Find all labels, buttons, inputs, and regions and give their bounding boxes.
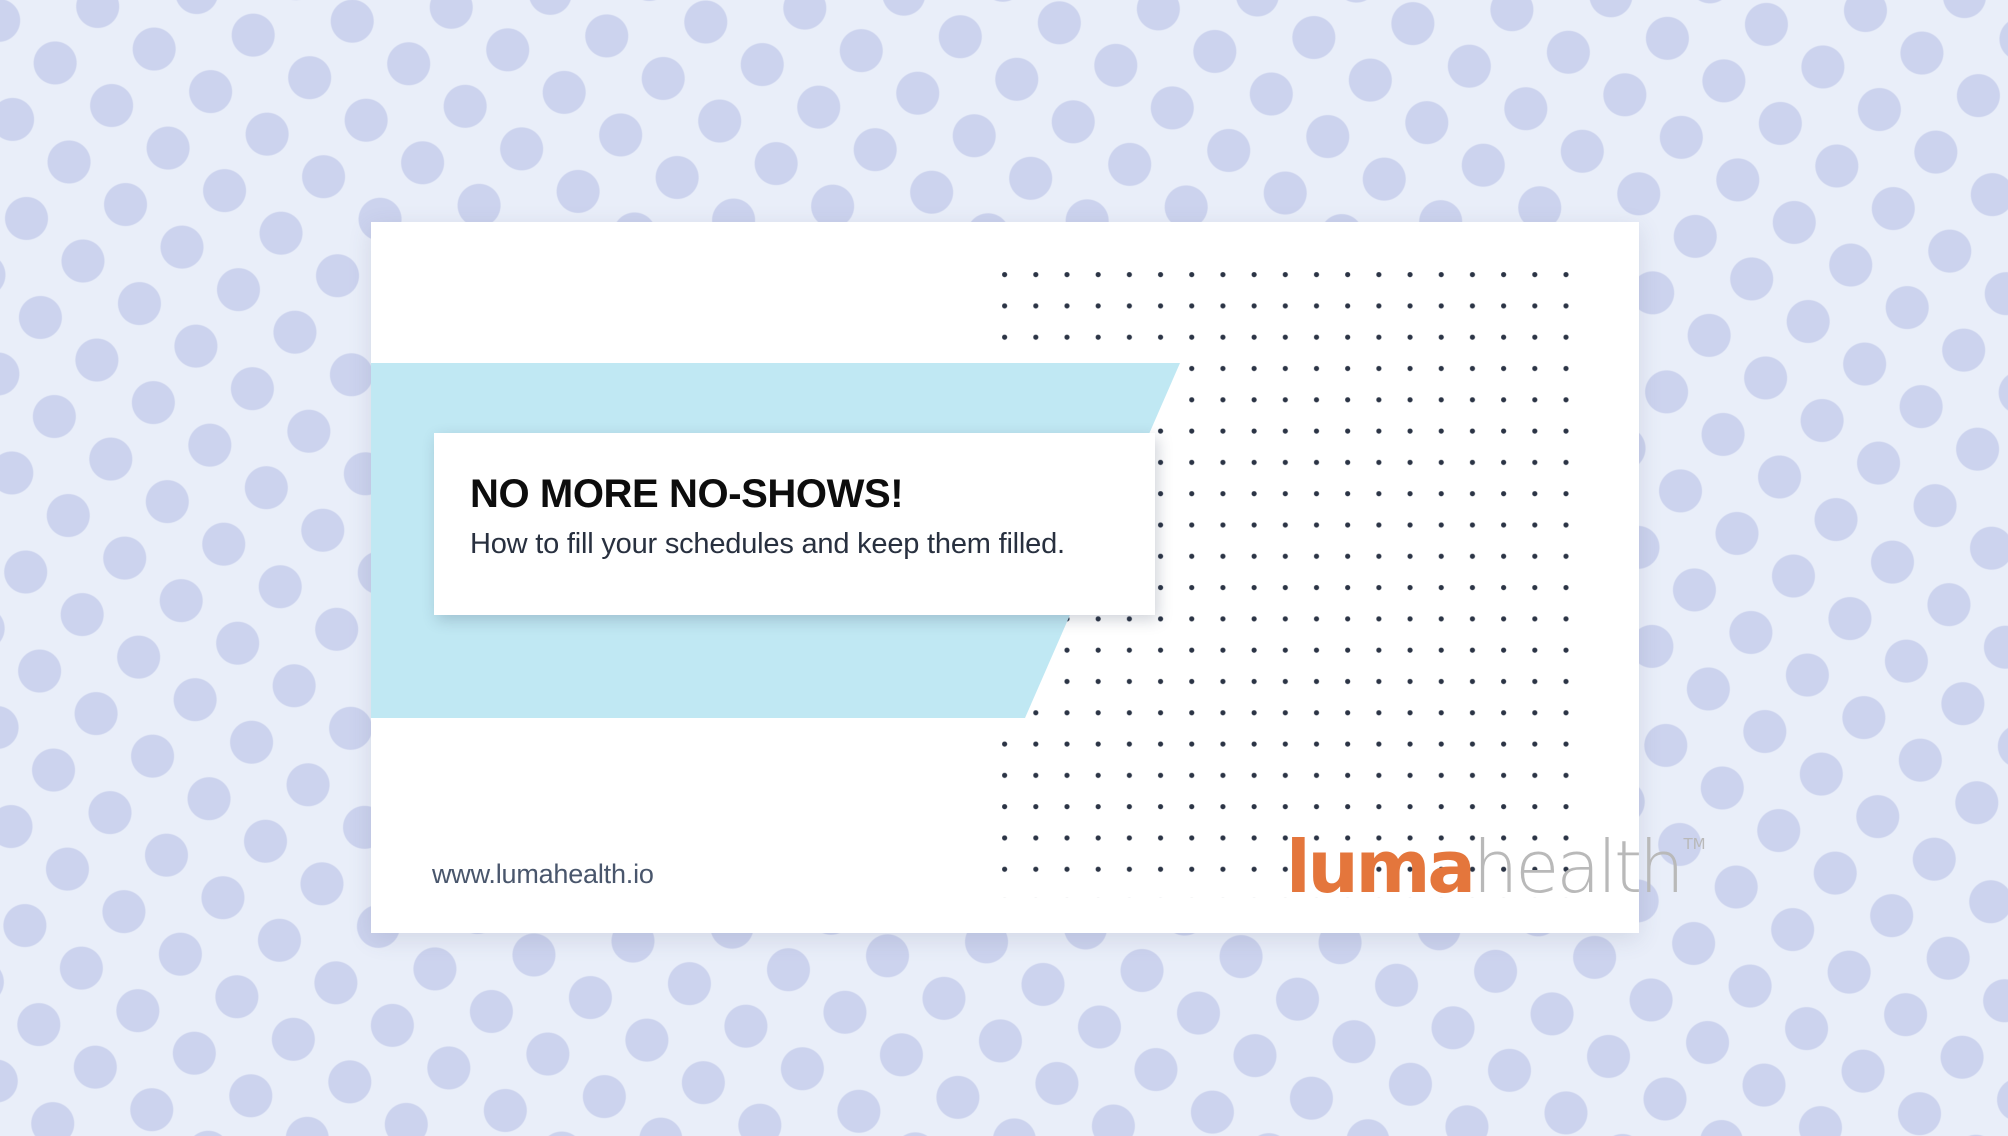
slide-stage: NO MORE NO-SHOWS! How to fill your sched… — [0, 0, 2008, 1136]
page-subtitle: How to fill your schedules and keep them… — [470, 528, 1065, 561]
title-card: NO MORE NO-SHOWS! How to fill your sched… — [434, 433, 1155, 615]
lumahealth-logo: luma health TM — [1286, 830, 1706, 904]
trademark-icon: TM — [1683, 834, 1705, 854]
presentation-slide: NO MORE NO-SHOWS! How to fill your sched… — [371, 222, 1639, 933]
website-url[interactable]: www.lumahealth.io — [432, 859, 654, 890]
page-title: NO MORE NO-SHOWS! — [470, 472, 903, 517]
logo-text-health: health — [1473, 830, 1682, 904]
logo-text-luma: luma — [1286, 830, 1473, 904]
